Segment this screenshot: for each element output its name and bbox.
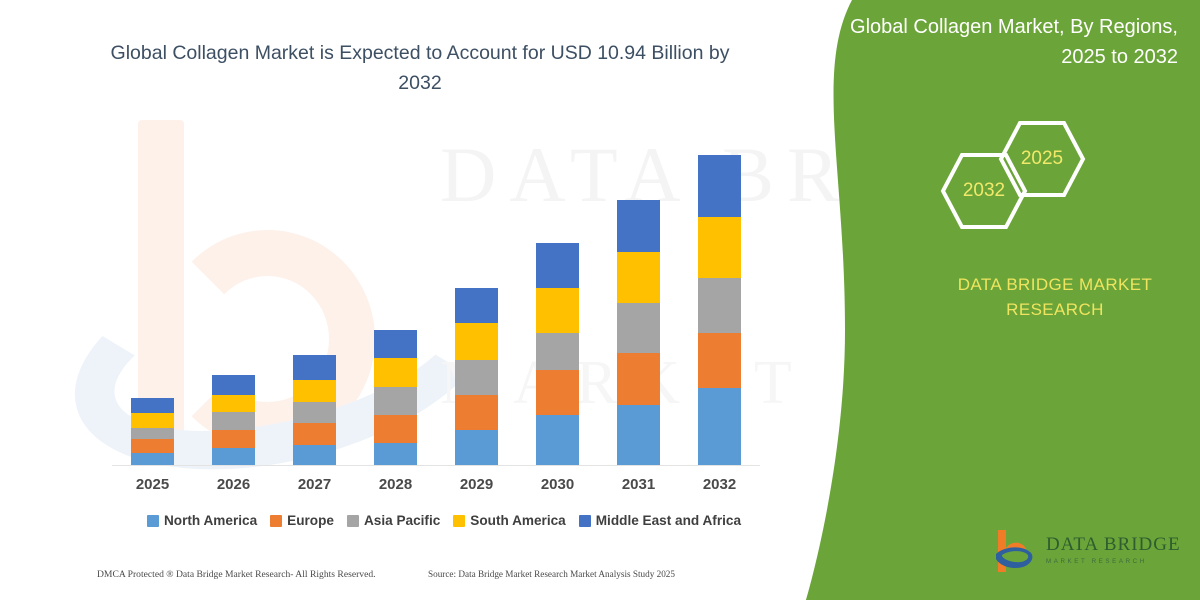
bar-segment[interactable] xyxy=(293,423,336,445)
bar-segment[interactable] xyxy=(212,448,255,465)
bar-segment[interactable] xyxy=(455,323,498,360)
bar-segment[interactable] xyxy=(617,252,660,303)
legend-swatch-icon xyxy=(579,515,591,527)
bar-column[interactable] xyxy=(436,288,517,465)
x-axis-labels: 20252026202720282029203020312032 xyxy=(112,476,760,493)
bar-segment[interactable] xyxy=(455,288,498,323)
bar-segment[interactable] xyxy=(374,443,417,465)
bar-segment[interactable] xyxy=(293,445,336,465)
bar-segment[interactable] xyxy=(617,303,660,353)
footer-source: Source: Data Bridge Market Research Mark… xyxy=(428,569,675,579)
data-bridge-logo: DATA BRIDGE MARKET RESEARCH xyxy=(990,528,1190,576)
green-panel-title: Global Collagen Market, By Regions, 2025… xyxy=(828,12,1178,72)
bar-column[interactable] xyxy=(679,155,760,465)
plot-area xyxy=(112,140,760,466)
data-bridge-logo-text: DATA BRIDGE MARKET RESEARCH xyxy=(1046,534,1181,565)
stacked-bar[interactable] xyxy=(617,200,660,465)
bar-segment[interactable] xyxy=(374,415,417,443)
infographic-canvas: DATA BRIDGE MARKET RESEARCH Global Colla… xyxy=(0,0,1200,600)
bar-segment[interactable] xyxy=(293,355,336,380)
x-axis-line xyxy=(112,465,760,466)
bar-segment[interactable] xyxy=(131,413,174,428)
bar-segment[interactable] xyxy=(536,370,579,415)
bar-column[interactable] xyxy=(517,243,598,465)
bar-segment[interactable] xyxy=(131,398,174,413)
bar-segment[interactable] xyxy=(698,333,741,388)
x-axis-tick-label: 2026 xyxy=(193,476,274,493)
footer-copyright: DMCA Protected ® Data Bridge Market Rese… xyxy=(97,569,376,580)
legend-label: North America xyxy=(164,513,257,528)
x-axis-tick-label: 2027 xyxy=(274,476,355,493)
legend-item[interactable]: Asia Pacific xyxy=(347,513,440,528)
bar-segment[interactable] xyxy=(374,330,417,358)
chart-panel: Global Collagen Market is Expected to Ac… xyxy=(0,0,840,600)
stacked-bar[interactable] xyxy=(374,330,417,465)
bar-segment[interactable] xyxy=(536,333,579,370)
hexagon-2025-label: 2025 xyxy=(998,120,1086,198)
bar-segment[interactable] xyxy=(698,278,741,333)
legend-item[interactable]: Middle East and Africa xyxy=(579,513,741,528)
bar-segment[interactable] xyxy=(617,405,660,465)
hexagon-group: 2032 2025 xyxy=(930,120,1130,235)
legend-label: South America xyxy=(470,513,565,528)
x-axis-tick-label: 2030 xyxy=(517,476,598,493)
bar-segment[interactable] xyxy=(212,375,255,395)
bar-segment[interactable] xyxy=(698,388,741,465)
bar-segment[interactable] xyxy=(455,430,498,465)
bar-segment[interactable] xyxy=(212,412,255,430)
bar-segment[interactable] xyxy=(536,288,579,333)
chart-title: Global Collagen Market is Expected to Ac… xyxy=(90,38,750,98)
legend-swatch-icon xyxy=(147,515,159,527)
x-axis-tick-label: 2031 xyxy=(598,476,679,493)
legend-item[interactable]: North America xyxy=(147,513,257,528)
legend-swatch-icon xyxy=(453,515,465,527)
bar-segment[interactable] xyxy=(131,453,174,465)
data-bridge-logo-icon xyxy=(990,528,1042,574)
stacked-bar[interactable] xyxy=(212,375,255,465)
x-axis-tick-label: 2032 xyxy=(679,476,760,493)
stacked-bar[interactable] xyxy=(455,288,498,465)
x-axis-tick-label: 2028 xyxy=(355,476,436,493)
stacked-bar[interactable] xyxy=(536,243,579,465)
bar-column[interactable] xyxy=(598,200,679,465)
bar-segment[interactable] xyxy=(293,402,336,423)
legend-label: Europe xyxy=(287,513,334,528)
green-panel-brand: DATA BRIDGE MARKET RESEARCH xyxy=(930,272,1180,322)
bar-segment[interactable] xyxy=(293,380,336,402)
stacked-bar[interactable] xyxy=(293,355,336,465)
x-axis-tick-label: 2029 xyxy=(436,476,517,493)
logo-name: DATA BRIDGE xyxy=(1046,534,1181,556)
bar-segment[interactable] xyxy=(698,217,741,278)
legend-item[interactable]: South America xyxy=(453,513,565,528)
bar-column[interactable] xyxy=(112,398,193,465)
bar-segment[interactable] xyxy=(374,387,417,415)
bar-segment[interactable] xyxy=(617,353,660,405)
bar-segment[interactable] xyxy=(212,395,255,412)
legend-label: Asia Pacific xyxy=(364,513,440,528)
bar-column[interactable] xyxy=(193,375,274,465)
bar-segment[interactable] xyxy=(455,360,498,395)
legend-label: Middle East and Africa xyxy=(596,513,741,528)
bar-segment[interactable] xyxy=(617,200,660,252)
hexagon-2025: 2025 xyxy=(998,120,1086,198)
logo-subtitle: MARKET RESEARCH xyxy=(1046,558,1181,565)
stacked-bar[interactable] xyxy=(698,155,741,465)
legend-item[interactable]: Europe xyxy=(270,513,334,528)
legend-swatch-icon xyxy=(347,515,359,527)
bar-segment[interactable] xyxy=(131,439,174,453)
chart-legend: North AmericaEuropeAsia PacificSouth Ame… xyxy=(104,513,784,528)
bar-segment[interactable] xyxy=(536,243,579,288)
bar-segment[interactable] xyxy=(131,428,174,439)
bar-segment[interactable] xyxy=(212,430,255,448)
stacked-bar[interactable] xyxy=(131,398,174,465)
bar-segment[interactable] xyxy=(536,415,579,465)
bar-group xyxy=(112,140,760,465)
bar-segment[interactable] xyxy=(698,155,741,217)
legend-swatch-icon xyxy=(270,515,282,527)
bar-segment[interactable] xyxy=(455,395,498,430)
x-axis-tick-label: 2025 xyxy=(112,476,193,493)
bar-column[interactable] xyxy=(355,330,436,465)
bar-column[interactable] xyxy=(274,355,355,465)
bar-segment[interactable] xyxy=(374,358,417,387)
